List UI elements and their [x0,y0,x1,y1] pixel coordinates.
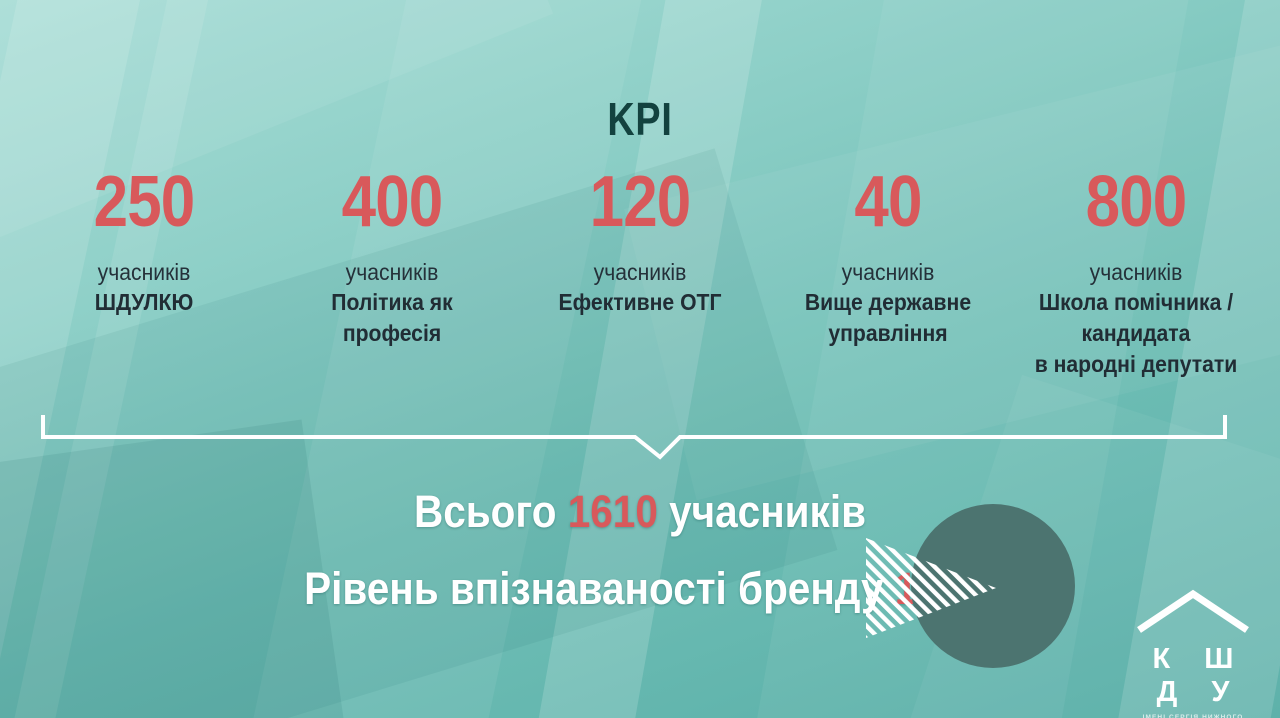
kpi-value: 400 [292,168,492,236]
total-suffix: учасників [658,486,866,537]
kpi-unit: учасників [285,258,498,286]
kpi-item-shdulkyu: 250 учасників ШДУЛКЮ [28,168,260,317]
kpi-program-line: Політика як [285,288,498,317]
kpi-row: 250 учасників ШДУЛКЮ 400 учасників Політ… [28,168,1252,379]
total-prefix: Всього [414,486,568,537]
kpi-value: 120 [540,168,740,236]
kpi-program-line: Вище державне [781,288,994,317]
kpi-item-efektyvne-otg: 120 учасників Ефективне ОТГ [524,168,756,317]
kpi-program-line: управління [781,319,994,348]
bracket-connector-icon [40,405,1240,465]
kpi-program-line: професія [285,319,498,348]
kpi-item-shkola-pomichnyka: 800 учасників Школа помічника / кандидат… [1020,168,1252,379]
kpi-program-line: Школа помічника / [1029,288,1242,317]
kpi-program-line: кандидата [1029,319,1242,348]
kpi-unit: учасників [781,258,994,286]
brand-prefix: Рівень впізнаваності бренду [304,563,895,614]
logo-tagline: ІМЕНІ СЕРГІЯ НИЖНОГО [1118,714,1268,718]
circle-triangle-decoration-icon [848,496,1078,686]
kpi-item-vyshche-derzhavne-upravlinnia: 40 учасників Вище державне управління [772,168,1004,348]
kpi-unit: учасників [37,258,250,286]
kpi-item-polityka-yak-profesiia: 400 учасників Політика як професія [276,168,508,348]
kpi-value: 800 [1036,168,1236,236]
kpi-program-line: Ефективне ОТГ [533,288,746,317]
logo-letters: К Ш Д У [1118,643,1268,709]
kpi-value: 40 [788,168,988,236]
kpi-slide: KPI 250 учасників ШДУЛКЮ 400 учасників П… [0,0,1280,718]
kpi-program-line: ШДУЛКЮ [37,288,250,317]
logo: К Ш Д У ІМЕНІ СЕРГІЯ НИЖНОГО [1118,588,1268,700]
kpi-unit: учасників [533,258,746,286]
kpi-program-line: в народні депутати [1029,350,1242,379]
total-number: 1610 [568,486,658,537]
page-title: KPI [115,92,1165,146]
kpi-unit: учасників [1029,258,1242,286]
roof-chevron-icon [1133,588,1253,634]
kpi-value: 250 [44,168,244,236]
